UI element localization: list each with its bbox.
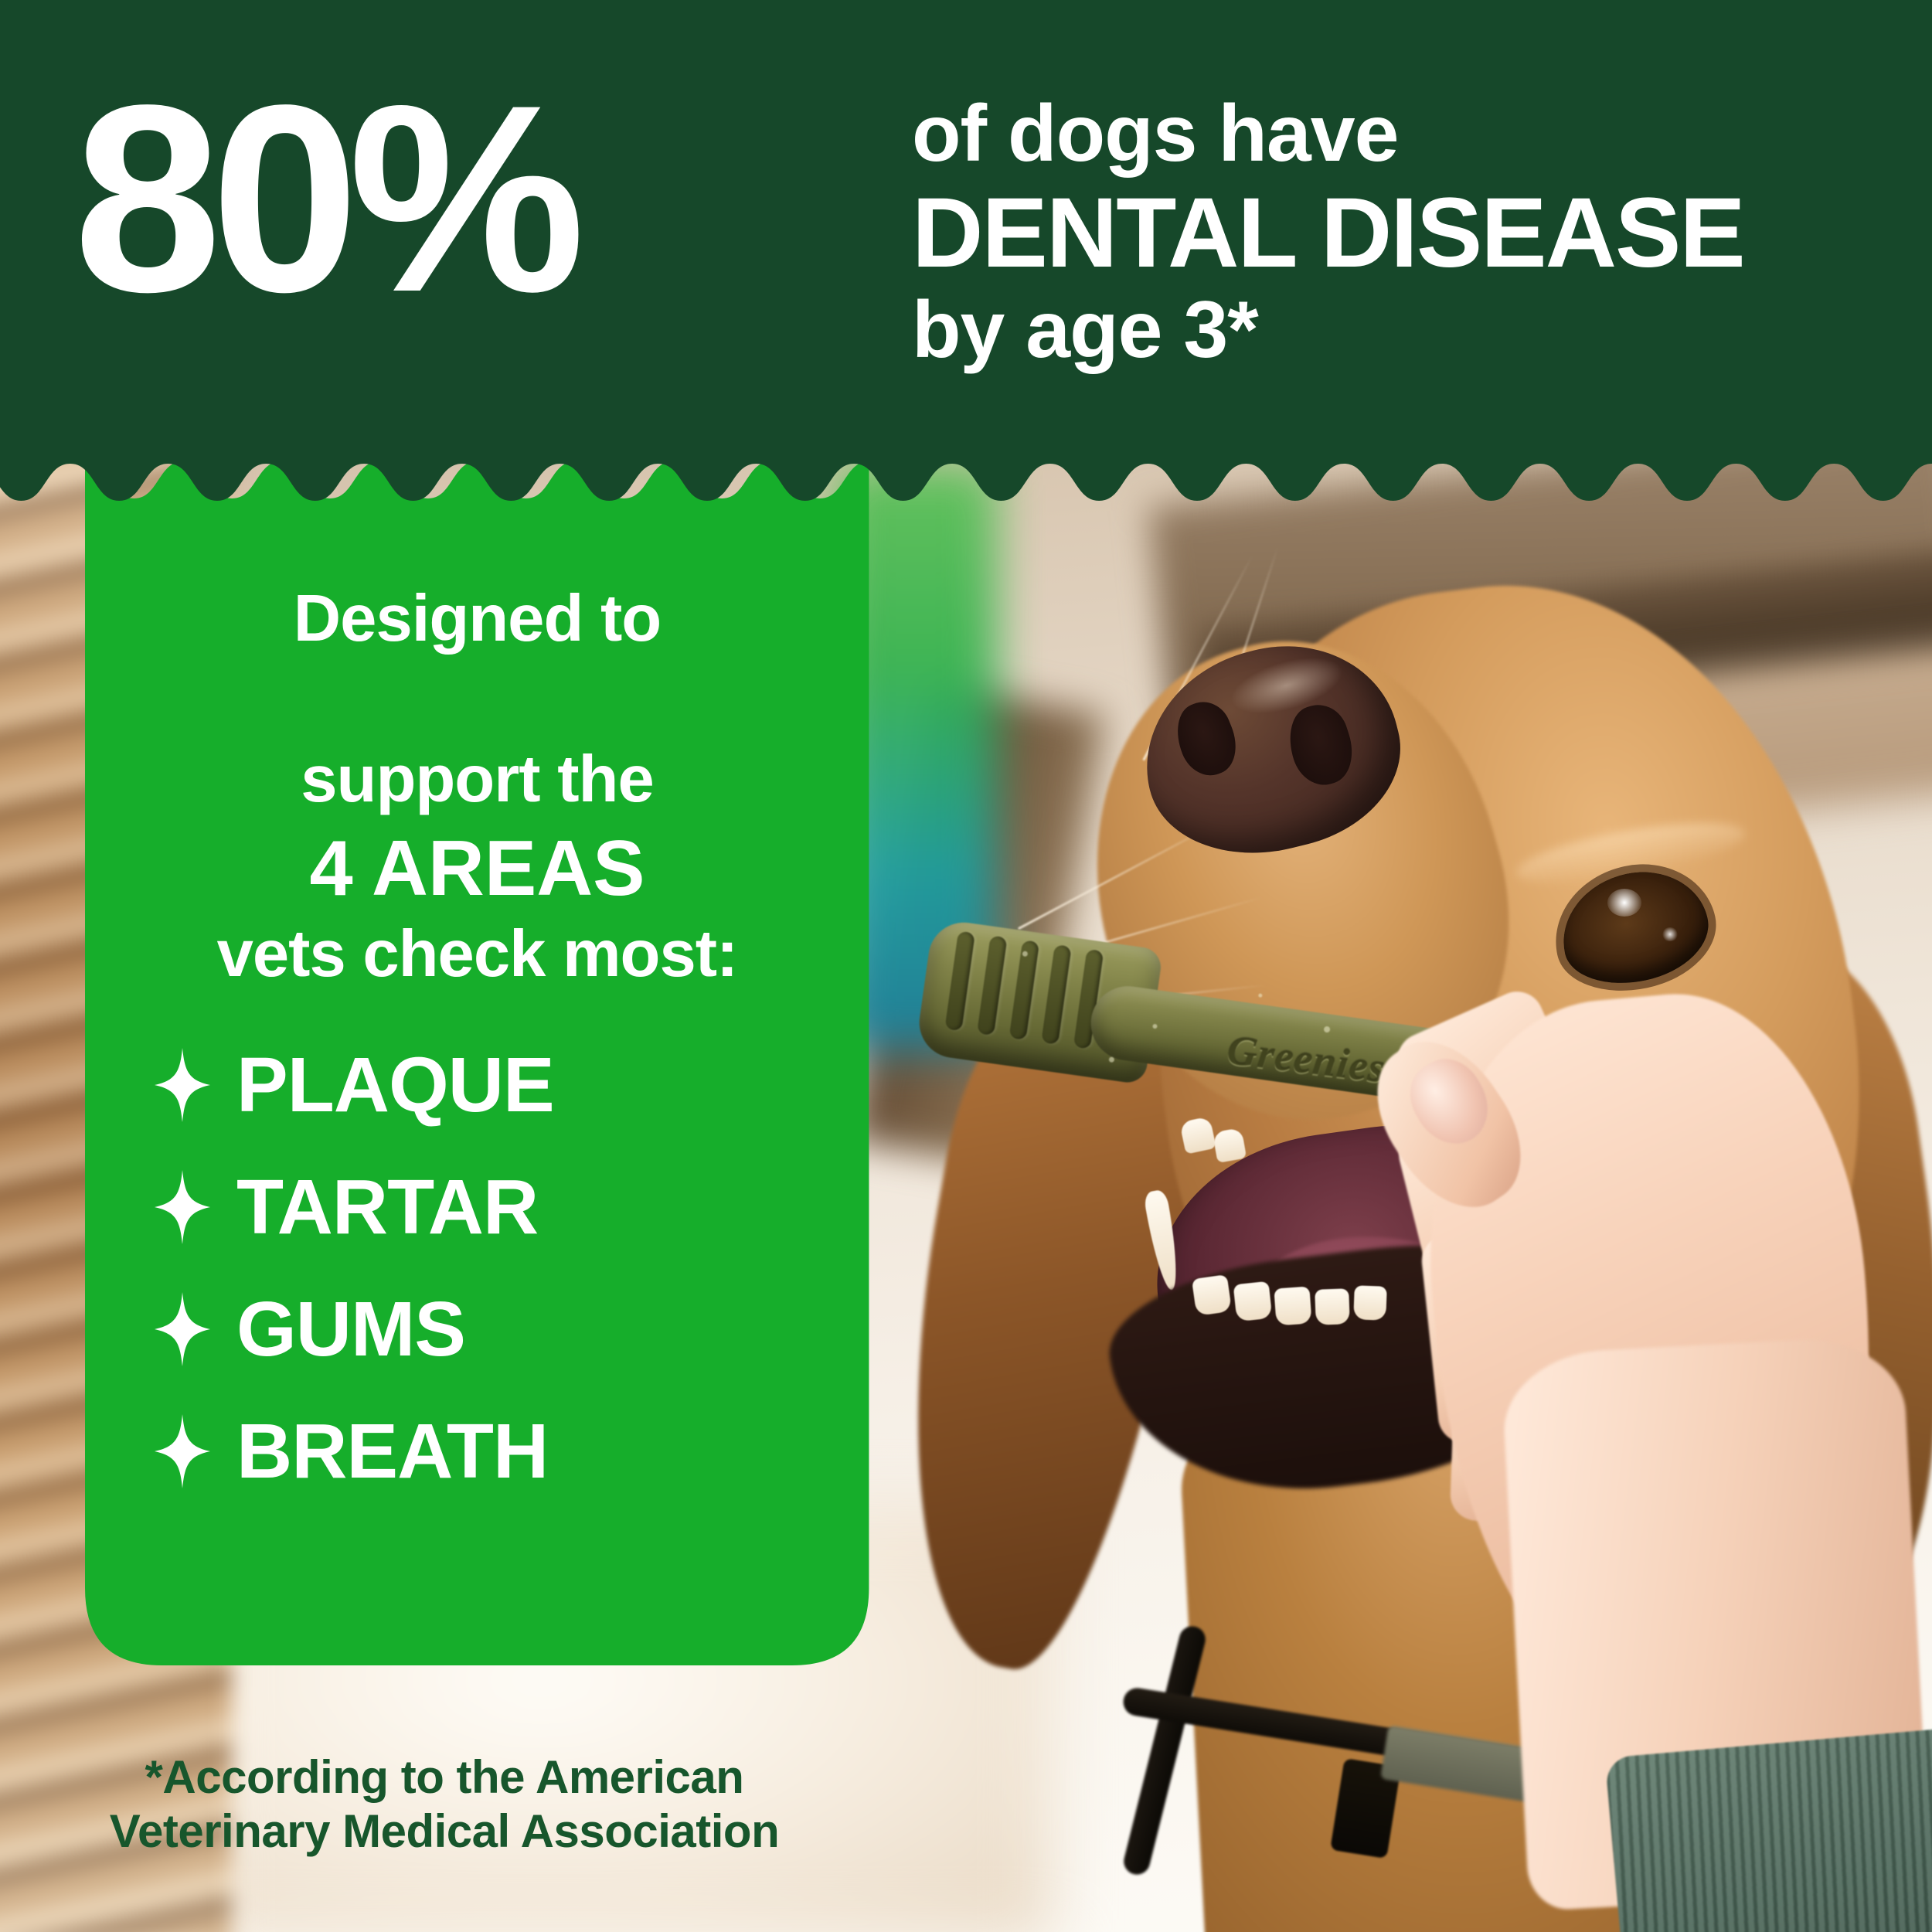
benefits-list: PLAQUE TARTAR GUMS BREATH [85, 1046, 869, 1490]
header-line-1: of dogs have [912, 93, 1744, 175]
eye-highlight [1607, 889, 1641, 917]
list-item-label: BREATH [236, 1413, 548, 1490]
dog-tooth [1233, 1281, 1273, 1322]
card-line-4: vets check most: [85, 918, 869, 991]
footnote: *According to the American Veterinary Me… [0, 1750, 889, 1858]
dog-tooth [1274, 1286, 1311, 1325]
dog-tooth [1192, 1274, 1232, 1316]
card-line-1: Designed to [85, 583, 869, 655]
eye-highlight [1662, 927, 1679, 941]
benefits-card-content: Designed to support the 4 AREAS vets che… [85, 495, 869, 1665]
stat-percentage: 80% [73, 66, 575, 332]
list-item: BREATH [155, 1413, 869, 1490]
header-line-2: DENTAL DISEASE [912, 181, 1744, 286]
footnote-line-2: Veterinary Medical Association [0, 1804, 889, 1859]
dog-tooth [1353, 1285, 1387, 1320]
header-text-group: 80% of dogs have DENTAL DISEASE by age 3… [0, 0, 1932, 433]
dog-tooth [1315, 1288, 1350, 1325]
list-item: PLAQUE [155, 1046, 869, 1124]
list-item-label: TARTAR [236, 1168, 538, 1246]
sparkle-icon [155, 1170, 210, 1244]
sparkle-icon [155, 1292, 210, 1366]
card-line-3: 4 AREAS [85, 828, 869, 910]
header-line-3: by age 3* [912, 289, 1744, 371]
sparkle-icon [155, 1414, 210, 1488]
header-right-lines: of dogs have DENTAL DISEASE by age 3* [912, 93, 1744, 371]
infographic-root: Greenies 80% of dogs have DENTAL DISEASE [0, 0, 1932, 1932]
sparkle-icon [155, 1048, 210, 1122]
list-item: TARTAR [155, 1168, 869, 1246]
card-line-2: support the [85, 743, 869, 816]
list-item: GUMS [155, 1291, 869, 1368]
footnote-line-1: *According to the American [0, 1750, 889, 1804]
list-item-label: PLAQUE [236, 1046, 554, 1124]
chew-speck [1258, 993, 1263, 998]
list-item-label: GUMS [236, 1291, 465, 1368]
